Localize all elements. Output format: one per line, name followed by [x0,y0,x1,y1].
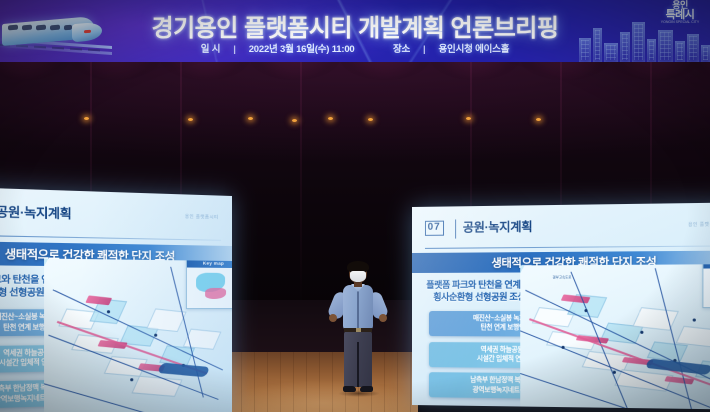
datetime-label: 일 시 [201,44,221,55]
banner-venue: 장소|용인시청 에이스홀 [384,44,518,55]
site-plan-map: Key map [45,258,232,412]
curtain-swags [0,58,710,104]
stage-light [84,117,89,120]
projection-screen-right: 07 공원·녹지계획 용인 플랫폼시티 생태적으로 건강한 쾌적한 단지 조성 … [412,202,710,409]
led-banner: 용인 특례시 YONGIN SPECIAL CITY 경기용인 플랫폼시티 개발… [0,0,710,62]
face-mask [350,271,366,282]
stage-floor-glow [228,352,418,412]
banner-subtitle: 일 시|2022년 3월 16일(수) 11:00 장소|용인시청 에이스홀 [0,41,710,55]
venue-value: 용인시청 에이스홀 [439,44,510,55]
banner-title: 경기용인 플랫폼시티 개발계획 언론브리핑 [0,8,710,43]
stage-light [536,118,541,121]
slide-watermark: 용인 플랫폼시티 [688,221,710,228]
venue-separator: | [423,44,425,55]
stage-back-wall [228,300,418,354]
stage-light [368,118,373,121]
datetime-separator: | [233,44,235,55]
banner-datetime: 일 시|2022년 3월 16일(수) 11:00 [192,44,364,55]
press-briefing-scene: 용인 특례시 YONGIN SPECIAL CITY 경기용인 플랫폼시티 개발… [0,0,710,412]
presenter [330,262,386,397]
stage-light [466,117,471,120]
site-plan-map: 경부고속도로 Key map [521,264,710,409]
venue-label: 장소 [393,44,410,55]
key-map-box: Key map [702,264,710,307]
slide-number: 07 [425,221,444,236]
stage-light [188,118,193,121]
stage-light [328,117,333,120]
slide-header-right: 07 공원·녹지계획 [425,213,710,247]
stage-light [248,117,253,120]
key-map-box: Key map [186,258,232,308]
slide-watermark: 용인 플랫폼시티 [185,214,219,221]
datetime-value: 2022년 3월 16일(수) 11:00 [249,44,355,55]
projection-screen-left: 07 공원·녹지계획 용인 플랫폼시티 생태적으로 건강한 쾌적한 단지 조성 … [0,186,232,412]
slide-header-title: 공원·녹지계획 [463,217,533,235]
map-text-label: 경부고속도로 [553,275,572,280]
stage-light [292,119,297,122]
slide-header-title: 공원·녹지계획 [0,202,71,222]
